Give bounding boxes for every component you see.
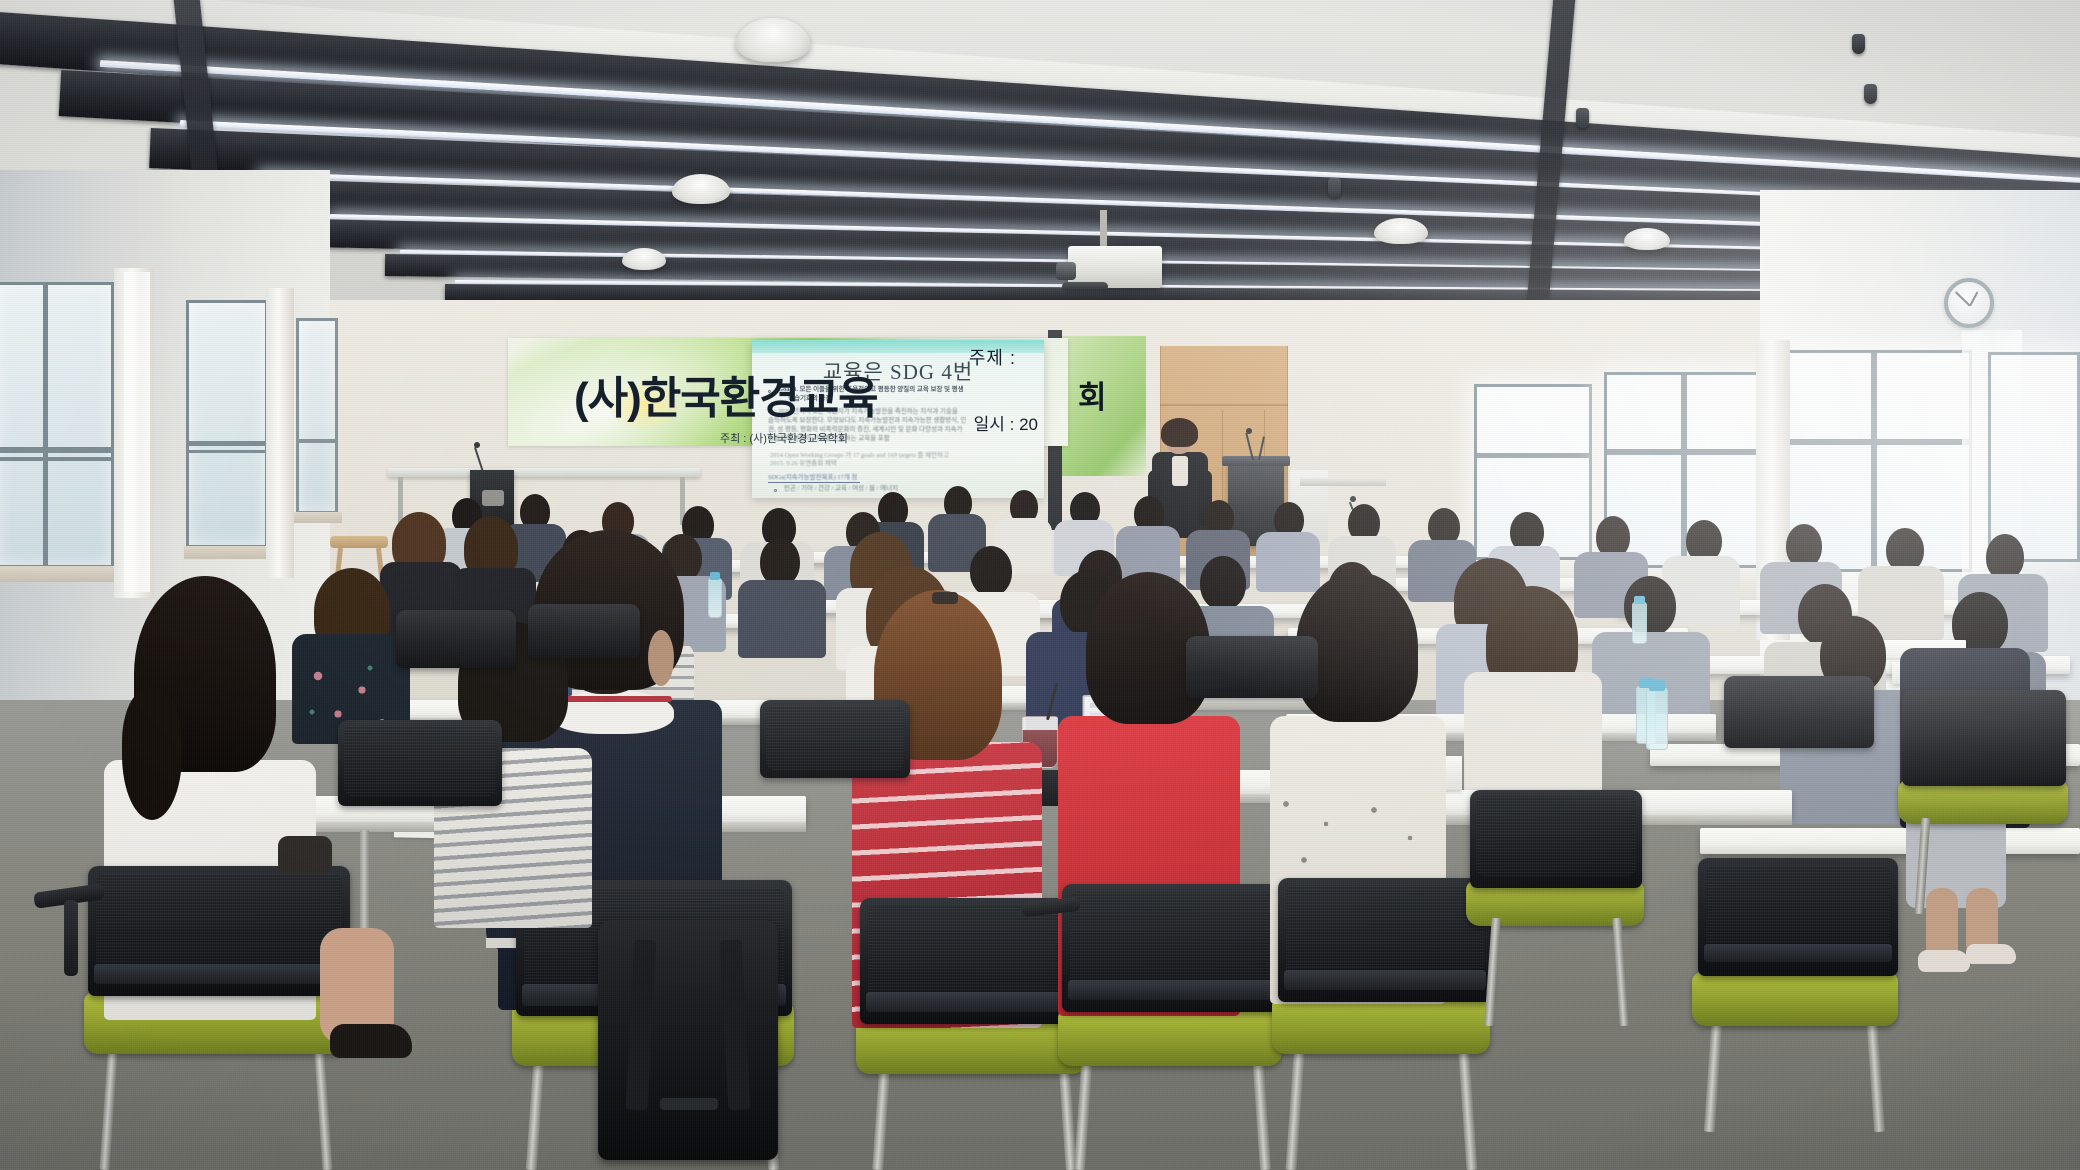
stage-table-left bbox=[388, 468, 700, 477]
window-right-4 bbox=[1988, 352, 2080, 562]
banner-org-tail: 회 bbox=[1078, 372, 1107, 417]
stage-table bbox=[1300, 478, 1386, 486]
podium-microphone-head bbox=[1246, 428, 1252, 434]
window-left-2 bbox=[186, 300, 268, 548]
lectern-logo bbox=[482, 490, 504, 506]
chair-backrest[interactable] bbox=[528, 604, 640, 658]
attendee-torso bbox=[1256, 532, 1320, 592]
backpack[interactable] bbox=[598, 920, 778, 1160]
projector-mount bbox=[1100, 210, 1107, 250]
track-spotlight bbox=[1576, 108, 1589, 128]
track-spotlight bbox=[1864, 84, 1877, 104]
ceiling-dome-light bbox=[672, 174, 730, 204]
attendee-ear bbox=[648, 630, 674, 686]
chair-seat[interactable] bbox=[1692, 972, 1898, 1026]
ceiling-dome-light bbox=[1374, 218, 1428, 244]
seminar-room-photo: 회 주제 : (사)한국환경교육 bbox=[0, 0, 2080, 1170]
wall-clock bbox=[1944, 278, 1994, 328]
attendee-head bbox=[1200, 556, 1246, 610]
chair-seat[interactable] bbox=[1058, 1008, 1282, 1066]
chair-backrest[interactable] bbox=[1902, 690, 2066, 786]
attendee-torso bbox=[1464, 672, 1602, 798]
podium-top bbox=[1222, 456, 1290, 466]
backpack-buckle bbox=[660, 1098, 718, 1110]
speaker-shirt bbox=[1172, 456, 1188, 486]
attendee-shoe bbox=[1918, 950, 1970, 972]
banner-date: 일시 : 20 bbox=[974, 410, 1038, 435]
hair-clip bbox=[932, 592, 958, 604]
chair-backrest[interactable] bbox=[396, 610, 516, 668]
track-spotlight bbox=[1852, 34, 1865, 54]
attendee-hand-item bbox=[278, 836, 332, 874]
ceiling-dome-light bbox=[1624, 228, 1670, 250]
banner-host: 주최 : (사)한국환경교육학회 bbox=[720, 430, 848, 446]
track-spotlight bbox=[1328, 178, 1341, 198]
attendee-shoe bbox=[330, 1024, 412, 1058]
banner-subject-label: 주제 : bbox=[969, 344, 1016, 370]
projector-lens bbox=[1056, 262, 1076, 280]
banner-organization: (사)한국환경교육 bbox=[574, 362, 878, 426]
projector-arm bbox=[1062, 282, 1108, 291]
water-bottle bbox=[1632, 602, 1647, 644]
collar-stripe bbox=[552, 696, 672, 702]
slide-note-line: 2015. 9.26 유엔총회 채택 bbox=[770, 460, 837, 469]
slide-sub-bullet: 빈곤 / 기아 / 건강 / 교육 / 여성 / 물 / 에너지 bbox=[784, 485, 898, 494]
wall-column bbox=[266, 288, 294, 578]
attendee-head bbox=[760, 538, 800, 586]
window-left-3 bbox=[296, 318, 338, 514]
attendee-head bbox=[970, 546, 1012, 596]
chair-backrest[interactable] bbox=[1724, 676, 1874, 748]
stool-seat bbox=[330, 536, 388, 548]
ceiling-dome-light bbox=[622, 248, 666, 270]
attendee-shoe bbox=[1966, 944, 2016, 964]
ceiling-dome-light bbox=[736, 18, 810, 62]
speaker-glasses bbox=[1168, 436, 1190, 439]
chair-seat[interactable] bbox=[1272, 996, 1490, 1054]
attendee-torso bbox=[738, 580, 826, 658]
water-bottle-front bbox=[1646, 688, 1668, 750]
water-bottle bbox=[708, 578, 722, 618]
window-left-1 bbox=[0, 282, 114, 568]
attendee-hair-strand bbox=[122, 690, 182, 820]
chair-backrest[interactable] bbox=[1186, 636, 1318, 698]
desk-front-right2 bbox=[1700, 828, 2080, 854]
speaker-hair bbox=[1161, 418, 1198, 447]
